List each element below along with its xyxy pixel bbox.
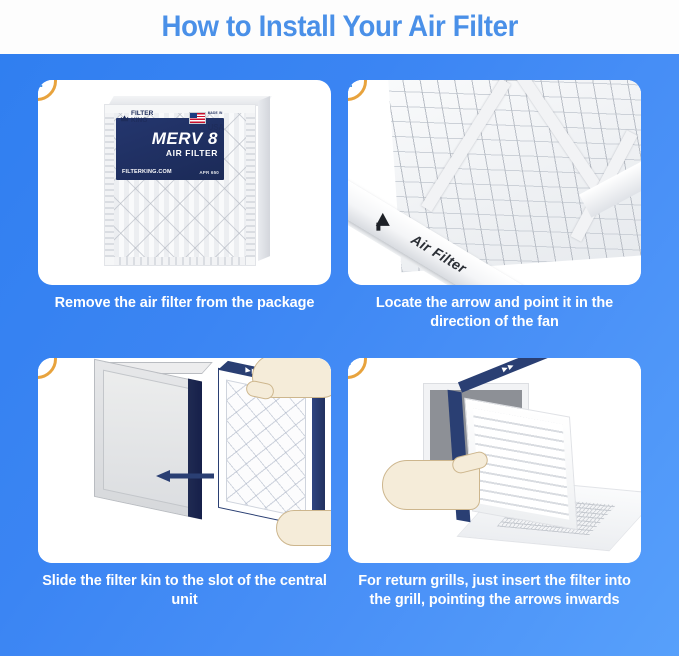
brand-row: FILTER KING MADE IN USA	[120, 102, 224, 134]
step-1-caption: Remove the air filter from the package	[38, 294, 331, 313]
step-1: 1 MERV 8 AIR FILTER	[38, 80, 331, 313]
step-4: 4 ▶▶	[348, 358, 641, 611]
filter-king-logo: FILTER KING	[120, 111, 153, 125]
filter-frame-left	[105, 113, 114, 257]
header-band: How to Install Your Air Filter	[0, 0, 679, 54]
step-3-caption: Slide the filter kin to the slot of the …	[38, 572, 331, 611]
made-in-usa-badge: MADE IN USA	[189, 102, 224, 134]
central-unit-slot-inner	[103, 370, 191, 509]
apr-rating: APR 650	[199, 170, 219, 175]
central-unit-side	[188, 379, 202, 520]
step-1-card: 1 MERV 8 AIR FILTER	[38, 80, 331, 285]
replacement-filter-mesh	[226, 379, 306, 518]
brand-website: FILTERKING.COM	[122, 169, 172, 175]
label-footer: FILTERKING.COM APR 650	[122, 169, 219, 175]
grill-filter-arrows-marking: ▶▶	[501, 361, 516, 373]
central-unit-slot	[94, 359, 200, 520]
page-title: How to Install Your Air Filter	[161, 10, 517, 44]
step-1-image: MERV 8 AIR FILTER FILTERKING.COM APR 650	[38, 80, 331, 285]
usa-label: USA	[208, 123, 224, 132]
filter-frame-bottom	[114, 257, 246, 265]
usa-text: MADE IN USA	[208, 102, 224, 134]
step-2-caption: Locate the arrow and point it in the dir…	[348, 294, 641, 333]
usa-flag-icon	[189, 112, 206, 124]
step-3-image: ▶▶	[38, 358, 331, 563]
steps-grid: 1 MERV 8 AIR FILTER	[0, 54, 679, 656]
filter-side-face	[258, 96, 270, 261]
brand-name: FILTER KING	[131, 111, 153, 125]
step-4-card: 4 ▶▶	[348, 358, 641, 563]
brand-line-2: KING	[131, 117, 147, 124]
step-4-image: ▶▶	[348, 358, 641, 563]
step-2-image: Air Filter	[348, 80, 641, 285]
step-3: 3 ▶▶	[38, 358, 331, 611]
crown-icon	[120, 114, 129, 123]
insert-direction-arrow-icon	[156, 470, 214, 482]
product-type-text: AIR FILTER	[116, 148, 218, 158]
air-filter-product: MERV 8 AIR FILTER FILTERKING.COM APR 650	[104, 96, 270, 268]
step-2-card: 2 Air Filter	[348, 80, 641, 285]
replacement-filter-edge	[312, 380, 325, 523]
hand-lower	[276, 510, 331, 546]
airflow-arrow-tail	[376, 223, 380, 231]
step-4-caption: For return grills, just insert the filte…	[348, 572, 641, 611]
grill-louvers	[473, 408, 569, 520]
step-3-card: 3 ▶▶	[38, 358, 331, 563]
filter-frame-right	[246, 113, 255, 257]
infographic-root: How to Install Your Air Filter 1	[0, 0, 679, 656]
made-in-label: MADE IN	[208, 111, 223, 115]
step-2: 2 Air Filter Locate the arrow and point …	[348, 80, 641, 333]
